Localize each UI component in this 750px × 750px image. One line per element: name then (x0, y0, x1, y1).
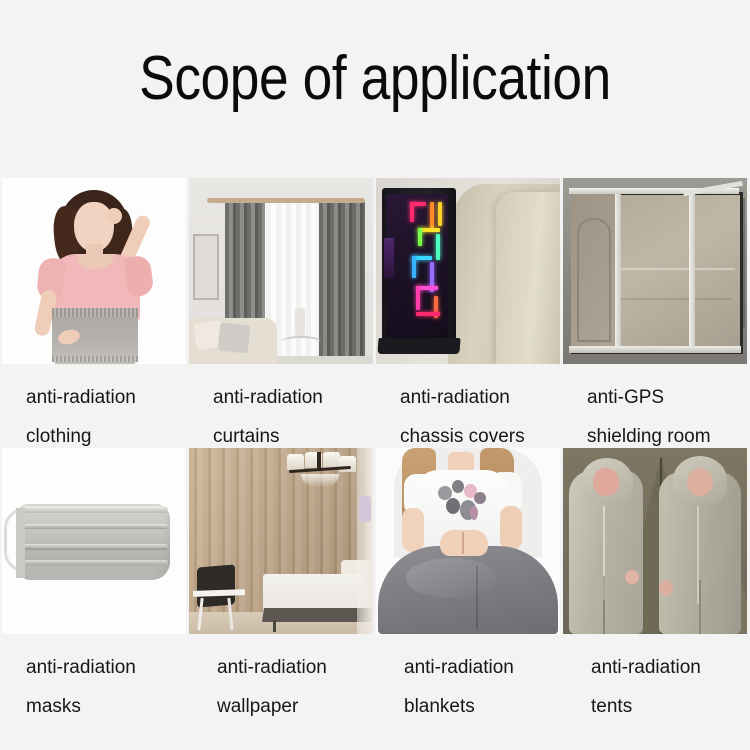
caption-anti-radiation-wallpaper: anti-radiation wallpaper (189, 634, 373, 718)
page-title: Scope of application (53, 44, 698, 114)
caption-line-1: anti-radiation (26, 657, 136, 678)
caption-line-1: anti-radiation (213, 387, 323, 408)
caption-line-1: anti-radiation (26, 387, 136, 408)
grid-item-anti-radiation-chassis-covers[interactable]: anti-radiation chassis covers (376, 178, 560, 448)
caption-line-2: tents (591, 687, 747, 726)
caption-anti-radiation-curtains: anti-radiation curtains (189, 364, 373, 448)
caption-anti-radiation-clothing: anti-radiation clothing (2, 364, 186, 448)
grid-item-anti-radiation-blankets[interactable]: anti-radiation blankets (376, 448, 560, 718)
photo-anti-gps-shielding-room (563, 178, 747, 364)
photo-anti-radiation-chassis-covers (376, 178, 560, 364)
photo-anti-radiation-wallpaper (189, 448, 373, 634)
photo-anti-radiation-tents (563, 448, 747, 634)
caption-line-1: anti-radiation (400, 387, 510, 408)
caption-anti-radiation-tents: anti-radiation tents (563, 634, 747, 718)
caption-line-2: wallpaper (217, 687, 373, 726)
caption-line-1: anti-GPS (587, 387, 664, 408)
grid-item-anti-radiation-masks[interactable]: anti-radiation masks (2, 448, 186, 718)
caption-anti-radiation-chassis-covers: anti-radiation chassis covers (376, 364, 560, 448)
caption-line-1: anti-radiation (591, 657, 701, 678)
photo-anti-radiation-curtains (189, 178, 373, 364)
photo-anti-radiation-blankets (376, 448, 560, 634)
application-grid: anti-radiation clothing anti-radiation c… (2, 178, 748, 718)
grid-item-anti-radiation-curtains[interactable]: anti-radiation curtains (189, 178, 373, 448)
scope-of-application-infographic: Scope of application anti-radiation clot… (0, 0, 750, 750)
caption-anti-gps-shielding-room: anti-GPS shielding room (563, 364, 747, 448)
caption-line-2: masks (26, 687, 186, 726)
caption-line-1: anti-radiation (217, 657, 327, 678)
caption-line-1: anti-radiation (404, 657, 514, 678)
grid-item-anti-radiation-tents[interactable]: anti-radiation tents (563, 448, 747, 718)
caption-anti-radiation-masks: anti-radiation masks (2, 634, 186, 718)
photo-anti-radiation-clothing (2, 178, 186, 364)
grid-item-anti-radiation-wallpaper[interactable]: anti-radiation wallpaper (189, 448, 373, 718)
caption-line-2: blankets (404, 687, 560, 726)
grid-item-anti-gps-shielding-room[interactable]: anti-GPS shielding room (563, 178, 747, 448)
photo-anti-radiation-masks (2, 448, 186, 634)
grid-item-anti-radiation-clothing[interactable]: anti-radiation clothing (2, 178, 186, 448)
caption-anti-radiation-blankets: anti-radiation blankets (376, 634, 560, 718)
